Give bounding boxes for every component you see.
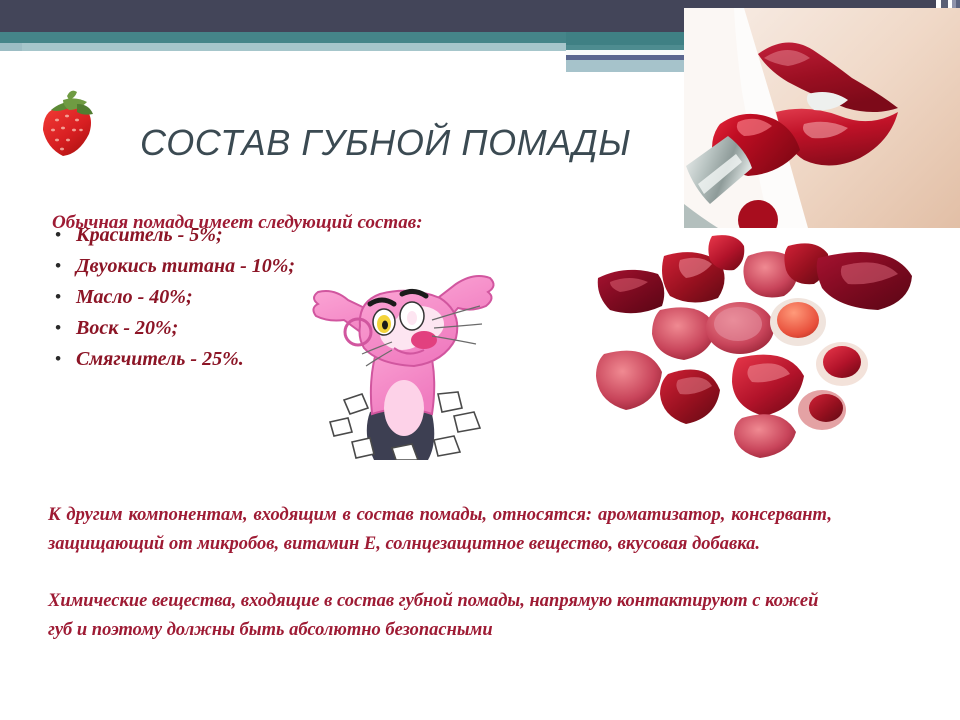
pink-panther-cartoon [252,262,550,460]
paragraph-other-components: К другим компонентам, входящим в состав … [48,501,832,559]
banner-lightblue-tab [0,43,22,51]
list-item: Двуокись титана - 10%; [52,253,295,280]
strawberry-icon [33,86,107,162]
paragraph-safety: Химические вещества, входящие в состав г… [48,587,832,645]
banner-lightblue-band-right [566,60,686,72]
ingredient-list: Краситель - 5%; Двуокись титана - 10%; М… [52,222,295,377]
list-item: Воск - 20%; [52,315,295,342]
list-item: Масло - 40%; [52,284,295,311]
lips-photo [684,8,960,228]
lipstick-collage-photo [592,232,918,458]
presentation-slide: СОСТАВ ГУБНОЙ ПОМАДЫ Обычная помада имее… [0,0,960,720]
banner-teal-band-left [0,32,566,43]
page-title: СОСТАВ ГУБНОЙ ПОМАДЫ [140,122,700,164]
list-item: Смягчитель - 25%. [52,346,295,373]
banner-lightblue-band-left [0,43,566,51]
list-item: Краситель - 5%; [52,222,295,249]
